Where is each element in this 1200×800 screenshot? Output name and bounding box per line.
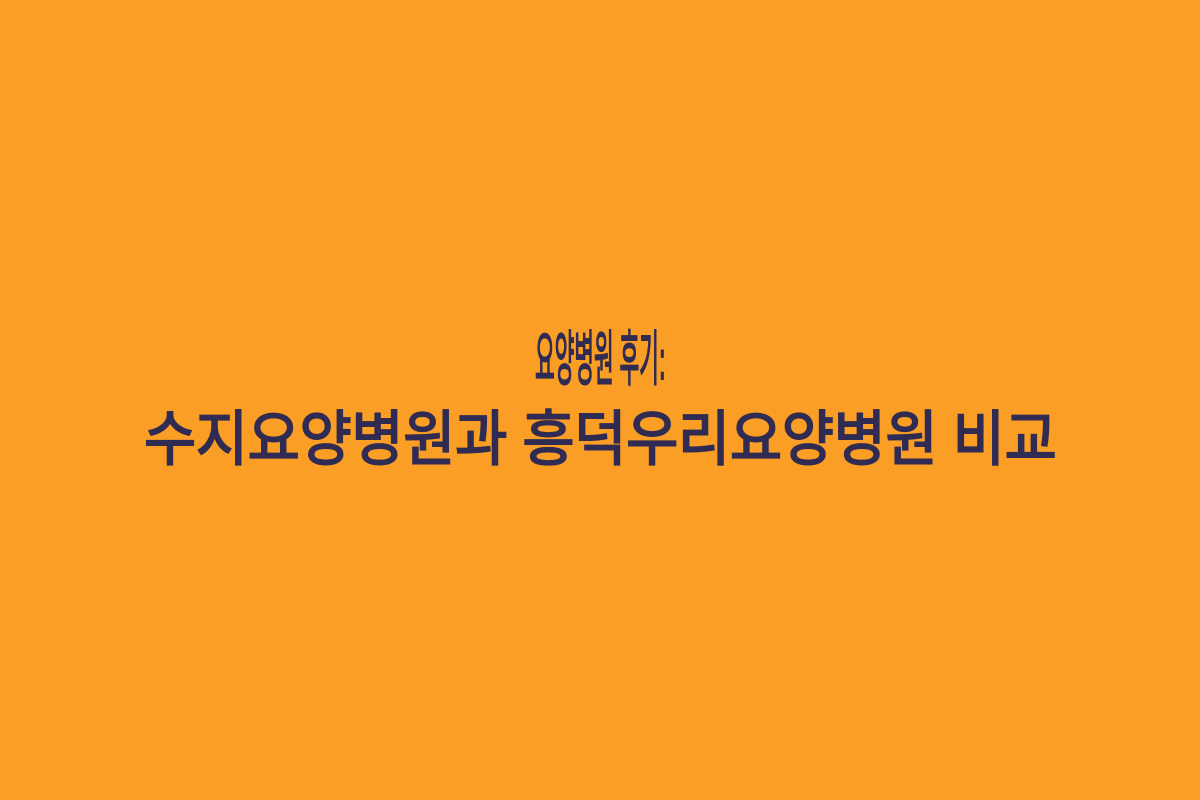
title-card: 요양병원 후기: 수지요양병원과 흥덕우리요양병원 비교 — [0, 0, 1200, 800]
title-line-secondary: 수지요양병원과 흥덕우리요양병원 비교 — [144, 400, 1057, 480]
page-title: 요양병원 후기: 수지요양병원과 흥덕우리요양병원 비교 — [0, 320, 1200, 480]
title-line-primary: 요양병원 후기: — [535, 320, 666, 400]
